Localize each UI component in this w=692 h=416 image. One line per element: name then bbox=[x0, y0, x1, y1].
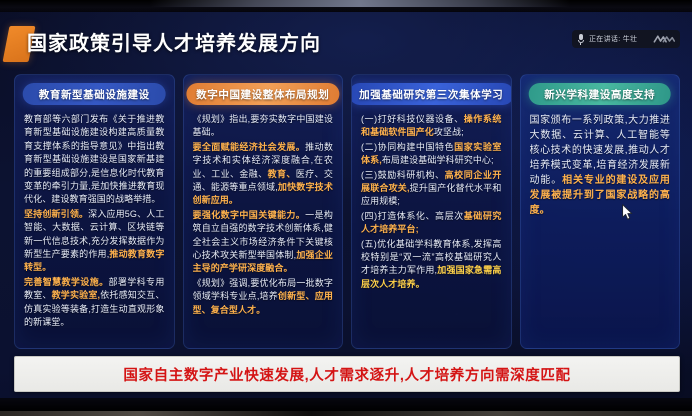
bezel-glare-bottom bbox=[0, 411, 692, 416]
presentation-slide: 国家政策引导人才培养发展方向 教育新型基础设施建设 教育部等六部门发布《关于推进… bbox=[0, 10, 692, 400]
summary-banner: 国家自主数字产业快速发展,人才需求逐升,人才培养方向需深度匹配 bbox=[14, 356, 680, 392]
text-run: 教育、 bbox=[268, 169, 296, 179]
card-basic-research-header: 加强基础研究第三次集体学习 bbox=[351, 83, 512, 105]
page-title: 国家政策引导人才培养发展方向 bbox=[27, 27, 321, 61]
bezel-glare bbox=[150, 0, 570, 7]
text-run: (二)协同构建中国特色 bbox=[361, 142, 454, 152]
audio-wave-icon bbox=[653, 33, 675, 45]
text-run: (一)打好科技仪器设备、 bbox=[361, 114, 464, 124]
card-basic-research-title: 加强基础研究第三次集体学习 bbox=[359, 87, 503, 102]
text-run: (四)打造体系化、高层次 bbox=[361, 211, 464, 221]
paragraph: 国家颁布一系列政策,大力推进大数据、云计算、人工智能等核心技术的快速发展,推动人… bbox=[530, 113, 671, 218]
paragraph: 《规划》强调,要优化布局一批数字领域学科专业点,培养创新型、应用型、复合型人才。 bbox=[193, 277, 334, 317]
text-run: 要强化数字中国关键能力。 bbox=[193, 210, 306, 220]
paragraph: (四)打造体系化、高层次基础研究人才培养平台; bbox=[361, 210, 502, 237]
text-run: 《规划》指出,要夯实数字中国建设基础。 bbox=[193, 114, 334, 137]
card-digital-china-title: 数字中国建设整体布局规划 bbox=[196, 87, 329, 102]
paragraph: (五)优化基础学科教育体系,发挥高校特别是“双一流”高校基础研究人才培养主力军作… bbox=[361, 238, 502, 292]
paragraph: (二)协同构建中国特色国家实验室体系,布局建设基础学科研究中心; bbox=[361, 141, 502, 168]
paragraph: (一)打好科技仪器设备、操作系统和基础软件国产化攻坚战; bbox=[361, 113, 502, 140]
card-edu-infra[interactable]: 教育新型基础设施建设 教育部等六部门发布《关于推进教育新型基础设施建设构建高质量… bbox=[14, 74, 175, 349]
card-emerging-disciplines-title: 新兴学科建设高度支持 bbox=[544, 87, 655, 102]
paragraph: 要强化数字中国关键能力。一是构筑自立自强的数字技术创新体系,健全社会主义市场经济… bbox=[193, 209, 334, 276]
card-digital-china[interactable]: 数字中国建设整体布局规划 《规划》指出,要夯实数字中国建设基础。 要全面赋能经济… bbox=[183, 74, 344, 349]
paragraph: 教育部等六部门发布《关于推进教育新型基础设施建设构建高质量教育支撑体系的指导意见… bbox=[24, 113, 165, 207]
card-basic-research[interactable]: 加强基础研究第三次集体学习 (一)打好科技仪器设备、操作系统和基础软件国产化攻坚… bbox=[351, 74, 512, 349]
card-emerging-disciplines-body: 国家颁布一系列政策,大力推进大数据、云计算、人工智能等核心技术的快速发展,推动人… bbox=[530, 113, 671, 342]
monitor-bezel-bottom bbox=[0, 400, 692, 416]
microphone-icon bbox=[577, 34, 584, 45]
card-edu-infra-header: 教育新型基础设施建设 bbox=[23, 83, 166, 105]
paragraph: 要全面赋能经济社会发展。推动数字技术和实体经济深度融合,在农业、工业、金融、教育… bbox=[193, 141, 334, 208]
text-run: 完善智慧教学设施。 bbox=[24, 277, 108, 287]
text-run: 教学实验室, bbox=[52, 290, 101, 300]
text-run: 攻坚战; bbox=[434, 127, 464, 137]
screen-share-view: 国家政策引导人才培养发展方向 教育新型基础设施建设 教育部等六部门发布《关于推进… bbox=[0, 0, 692, 416]
text-run: 要全面赋能经济社会发展。 bbox=[193, 142, 306, 152]
summary-banner-text: 国家自主数字产业快速发展,人才需求逐升,人才培养方向需深度匹配 bbox=[123, 364, 570, 385]
text-run: 坚持创新引领。 bbox=[24, 209, 88, 219]
card-edu-infra-title: 教育新型基础设施建设 bbox=[39, 87, 150, 102]
active-speaker-pill[interactable]: 正在讲话: 牛壮 bbox=[572, 30, 680, 48]
active-speaker-label: 正在讲话: 牛壮 bbox=[589, 34, 637, 44]
card-basic-research-body: (一)打好科技仪器设备、操作系统和基础软件国产化攻坚战; (二)协同构建中国特色… bbox=[361, 113, 502, 342]
monitor-bezel-top bbox=[0, 0, 692, 12]
paragraph: 《规划》指出,要夯实数字中国建设基础。 bbox=[193, 113, 334, 140]
policy-card-row: 教育新型基础设施建设 教育部等六部门发布《关于推进教育新型基础设施建设构建高质量… bbox=[14, 74, 680, 349]
paragraph: (三)鼓励科研机构、高校同企业开展联合攻关,提升国产化替代水平和应用规模; bbox=[361, 169, 502, 209]
card-digital-china-header: 数字中国建设整体布局规划 bbox=[186, 83, 339, 105]
text-run: (三)鼓励科研机构、 bbox=[361, 170, 445, 180]
card-emerging-disciplines-header: 新兴学科建设高度支持 bbox=[528, 83, 671, 105]
paragraph: 坚持创新引领。深入应用5G、人工智能、大数据、云计算、区块链等新一代信息技术,充… bbox=[24, 208, 165, 275]
card-digital-china-body: 《规划》指出,要夯实数字中国建设基础。 要全面赋能经济社会发展。推动数字技术和实… bbox=[193, 113, 334, 342]
text-run: 教育部等六部门发布《关于推进教育新型基础设施建设构建高质量教育支撑体系的指导意见… bbox=[24, 114, 165, 204]
card-emerging-disciplines[interactable]: 新兴学科建设高度支持 国家颁布一系列政策,大力推进大数据、云计算、人工智能等核心… bbox=[520, 74, 681, 349]
card-edu-infra-body: 教育部等六部门发布《关于推进教育新型基础设施建设构建高质量教育支撑体系的指导意见… bbox=[24, 113, 165, 342]
paragraph: 完善智慧教学设施。部署学科专用教室、教学实验室,依托感知交互、仿真实验等装备,打… bbox=[24, 276, 165, 330]
text-run: 布局建设基础学科研究中心; bbox=[382, 155, 494, 165]
